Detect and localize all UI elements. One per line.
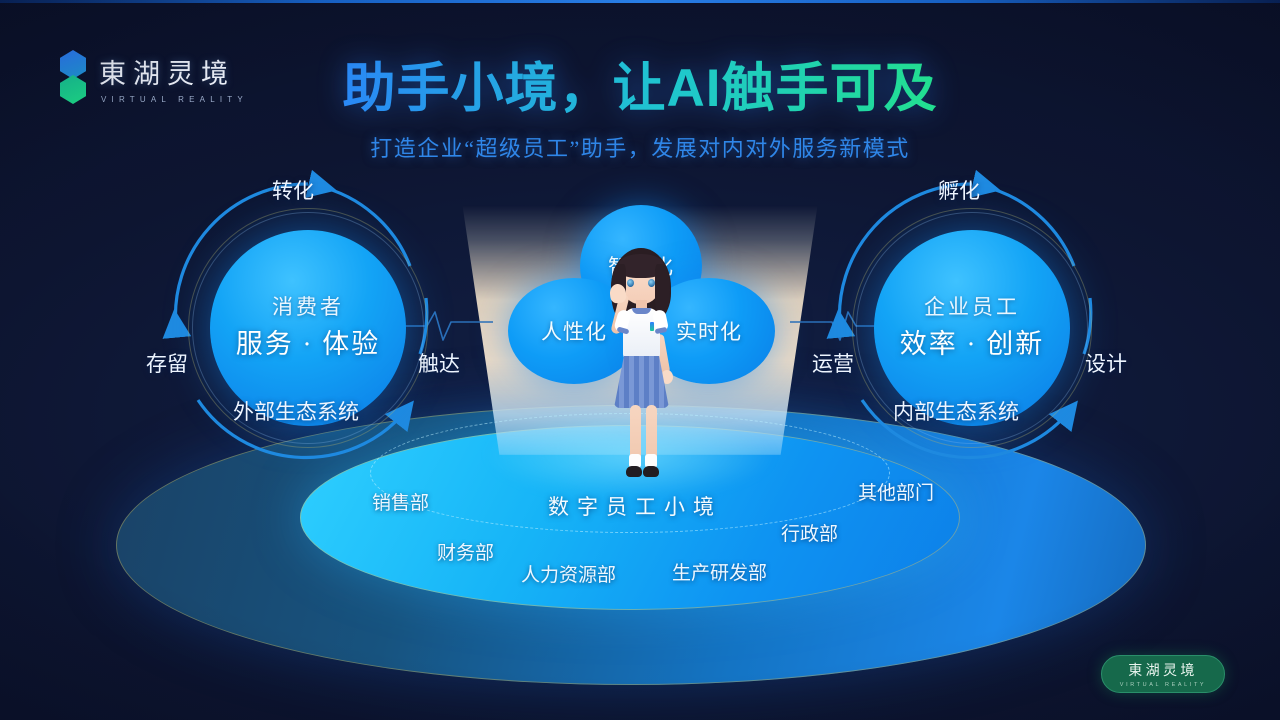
employee-label-right: 设计: [1085, 348, 1127, 378]
avatar-cuff-right: [655, 327, 668, 334]
slide-canvas: 東湖灵境 VIRTUAL REALITY 助手小境，让AI触手可及 打造企业“超…: [0, 0, 1280, 720]
footer-badge-cn: 東湖灵境: [1128, 660, 1198, 680]
stage-center-label: 数字员工小境: [548, 491, 722, 521]
consumer-cluster: 消费者 服务 · 体验: [158, 178, 458, 478]
consumer-core-caption: 消费者: [272, 294, 344, 321]
department-label-other: 其他部门: [858, 478, 934, 505]
department-label-sales: 销售部: [372, 488, 429, 515]
department-label-rnd: 生产研发部: [672, 558, 767, 585]
page-title: 助手小境，让AI触手可及: [0, 46, 1280, 122]
department-label-finance: 财务部: [437, 538, 494, 565]
consumer-label-left: 存留: [146, 348, 188, 378]
avatar-shoe-left: [626, 466, 642, 477]
consumer-core-main: 服务 · 体验: [236, 327, 381, 362]
top-accent-line: [0, 0, 1280, 3]
department-label-hr: 人力资源部: [521, 560, 616, 587]
employee-label-top: 孵化: [938, 175, 980, 205]
avatar-hair-side-right: [655, 264, 670, 316]
digital-employee-avatar: [592, 242, 690, 492]
department-label-admin: 行政部: [781, 519, 838, 546]
footer-badge-en: VIRTUAL REALITY: [1120, 682, 1206, 688]
avatar-eye-right: [648, 279, 655, 287]
avatar-collar: [632, 308, 651, 314]
avatar-shoe-right: [643, 466, 659, 477]
footer-brand-badge[interactable]: 東湖灵境 VIRTUAL REALITY: [1101, 655, 1225, 693]
consumer-label-bottom: 外部生态系统: [233, 396, 359, 426]
employee-label-bottom: 内部生态系统: [893, 396, 1019, 426]
employee-core-main: 效率 · 创新: [900, 327, 1045, 362]
employee-label-left: 运营: [812, 348, 854, 378]
consumer-label-top: 转化: [272, 175, 314, 205]
avatar-eye-left: [627, 279, 634, 287]
employee-cluster: 企业员工 效率 · 创新: [822, 178, 1122, 478]
page-subtitle: 打造企业“超级员工”助手，发展对内对外服务新模式: [0, 131, 1280, 163]
consumer-label-right: 触达: [418, 348, 460, 378]
employee-core-caption: 企业员工: [924, 294, 1020, 321]
